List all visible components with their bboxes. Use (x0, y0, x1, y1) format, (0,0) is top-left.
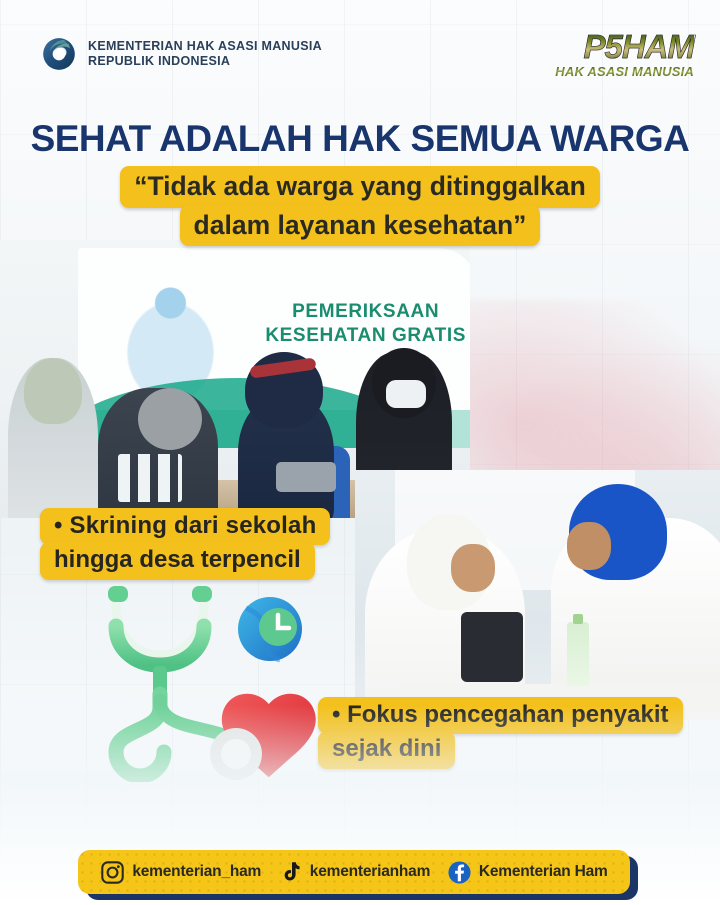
tiktok-icon (278, 860, 303, 885)
social-facebook[interactable]: Kementerian Ham (447, 860, 608, 885)
quote-line-1: “Tidak ada warga yang ditinggalkan (120, 166, 600, 208)
tiktok-handle: kementerianham (310, 863, 430, 881)
photo2-bp-cuff (461, 612, 523, 682)
photo1-nurse-mask (386, 380, 426, 408)
quote-line-2: dalam layanan kesehatan” (180, 205, 541, 247)
social-footer-bar: kementerian_ham kementerianham Kementeri… (78, 850, 630, 894)
facebook-handle: Kementerian Ham (479, 863, 608, 881)
photo1-bp-device (276, 462, 336, 492)
instagram-icon (100, 860, 125, 885)
photo2-sanitizer-bottle (567, 622, 589, 686)
blood-pressure-photo (355, 470, 720, 720)
globe-clock-icon (238, 597, 302, 661)
bullet-1-line-1: • Skrining dari sekolah (40, 508, 330, 545)
poster-root: KEMENTERIAN HAK ASASI MANUSIA REPUBLIK I… (0, 0, 720, 905)
photo1-person-middle-head (138, 388, 202, 450)
social-instagram[interactable]: kementerian_ham (100, 860, 261, 885)
ministry-brand: KEMENTERIAN HAK ASASI MANUSIA REPUBLIK I… (40, 35, 322, 73)
social-tiktok[interactable]: kementerianham (278, 860, 430, 885)
quote-banner: “Tidak ada warga yang ditinggalkan dalam… (0, 166, 720, 246)
p5ham-logo: P5HAM HAK ASASI MANUSIA (555, 30, 694, 78)
kemenham-swirl-logo-icon (40, 35, 78, 73)
bullet-1-line-2: hingga desa terpencil (40, 542, 315, 579)
ministry-name: KEMENTERIAN HAK ASASI MANUSIA REPUBLIK I… (88, 39, 322, 69)
backdrop-line-2: KESEHATAN GRATIS (265, 324, 466, 348)
poster-header: KEMENTERIAN HAK ASASI MANUSIA REPUBLIK I… (0, 0, 720, 108)
photo1-bottles (118, 454, 182, 502)
instagram-handle: kementerian_ham (132, 863, 261, 881)
photo2-student-face (451, 544, 495, 592)
page-title: SEHAT ADALAH HAK SEMUA WARGA (0, 118, 720, 160)
backdrop-text: PEMERIKSAAN KESEHATAN GRATIS (265, 300, 466, 348)
bullet-1-marker: • (54, 512, 63, 539)
bullet-banner-1: • Skrining dari sekolah hingga desa terp… (40, 508, 330, 580)
facebook-icon (447, 860, 472, 885)
bullet-1-text-1: Skrining dari sekolah (69, 512, 316, 539)
ministry-line-1: KEMENTERIAN HAK ASASI MANUSIA (88, 39, 322, 54)
photo2-nurse-face (567, 522, 611, 570)
photo1-person-left-head (24, 358, 82, 424)
p5ham-tagline: HAK ASASI MANUSIA (555, 65, 694, 78)
backdrop-line-1: PEMERIKSAAN (265, 300, 466, 324)
p5ham-wordmark: P5HAM (555, 30, 694, 63)
ministry-line-2: REPUBLIK INDONESIA (88, 54, 322, 69)
